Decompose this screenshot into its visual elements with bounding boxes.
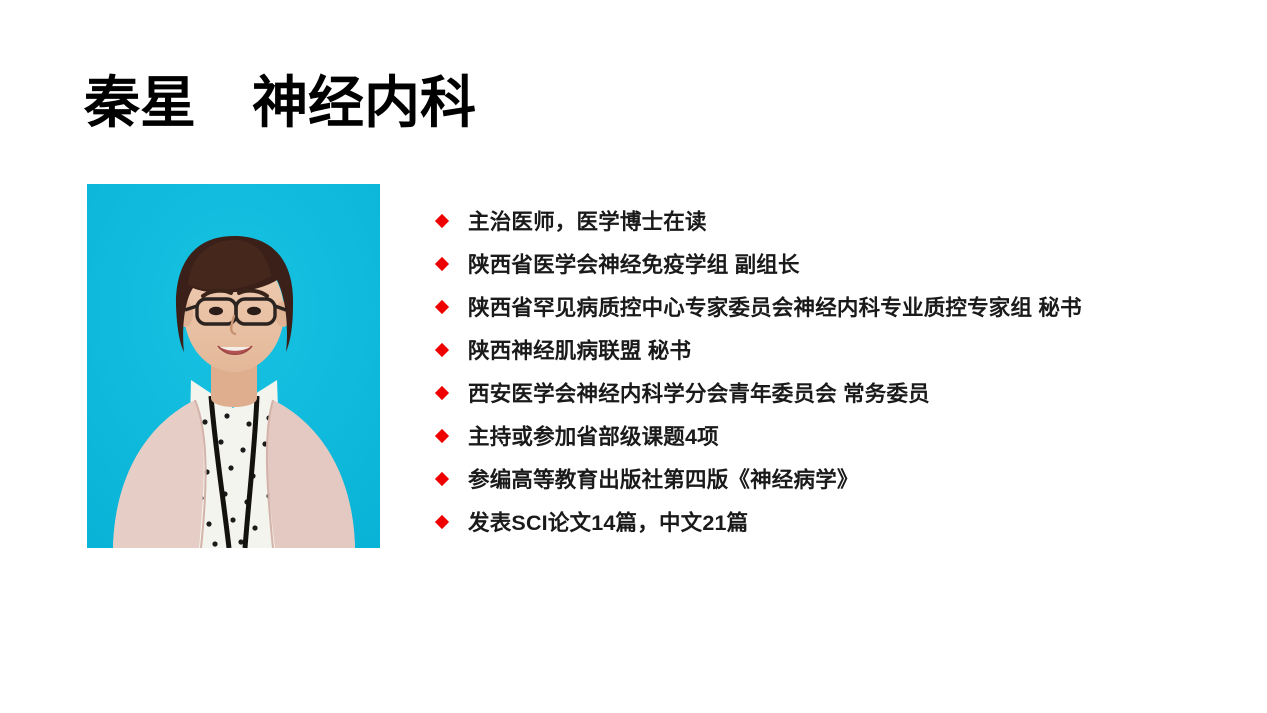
diamond-bullet-icon	[435, 471, 449, 485]
list-item: 参编高等教育出版社第四版《神经病学》	[434, 457, 1134, 500]
list-item: 陕西神经肌病联盟 秘书	[434, 328, 1134, 371]
diamond-bullet-icon	[435, 428, 449, 442]
list-item-label: 发表SCI论文14篇，中文21篇	[468, 506, 1134, 537]
list-item: 陕西省医学会神经免疫学组 副组长	[434, 242, 1134, 285]
list-item-label: 参编高等教育出版社第四版《神经病学》	[468, 463, 1134, 494]
list-item-label: 陕西省医学会神经免疫学组 副组长	[468, 248, 1134, 279]
list-item-label: 陕西省罕见病质控中心专家委员会神经内科专业质控专家组 秘书	[468, 291, 1134, 322]
portrait-illustration	[87, 184, 380, 548]
list-item-label: 陕西神经肌病联盟 秘书	[468, 334, 1134, 365]
list-item: 发表SCI论文14篇，中文21篇	[434, 500, 1134, 543]
page-title: 秦星 神经内科	[84, 72, 476, 135]
list-item: 陕西省罕见病质控中心专家委员会神经内科专业质控专家组 秘书	[434, 285, 1134, 328]
diamond-bullet-icon	[435, 256, 449, 270]
diamond-bullet-icon	[435, 514, 449, 528]
list-item-label: 主治医师，医学博士在读	[468, 205, 1134, 236]
list-item-label: 主持或参加省部级课题4项	[468, 420, 1134, 451]
list-item-label: 西安医学会神经内科学分会青年委员会 常务委员	[468, 377, 1134, 408]
list-item: 主治医师，医学博士在读	[434, 199, 1134, 242]
diamond-bullet-icon	[435, 299, 449, 313]
slide-root: 秦星 神经内科	[0, 0, 1267, 713]
list-item: 西安医学会神经内科学分会青年委员会 常务委员	[434, 371, 1134, 414]
portrait-photo	[87, 184, 380, 548]
diamond-bullet-icon	[435, 342, 449, 356]
credentials-list: 主治医师，医学博士在读 陕西省医学会神经免疫学组 副组长 陕西省罕见病质控中心专…	[434, 199, 1134, 543]
diamond-bullet-icon	[435, 385, 449, 399]
diamond-bullet-icon	[435, 213, 449, 227]
list-item: 主持或参加省部级课题4项	[434, 414, 1134, 457]
